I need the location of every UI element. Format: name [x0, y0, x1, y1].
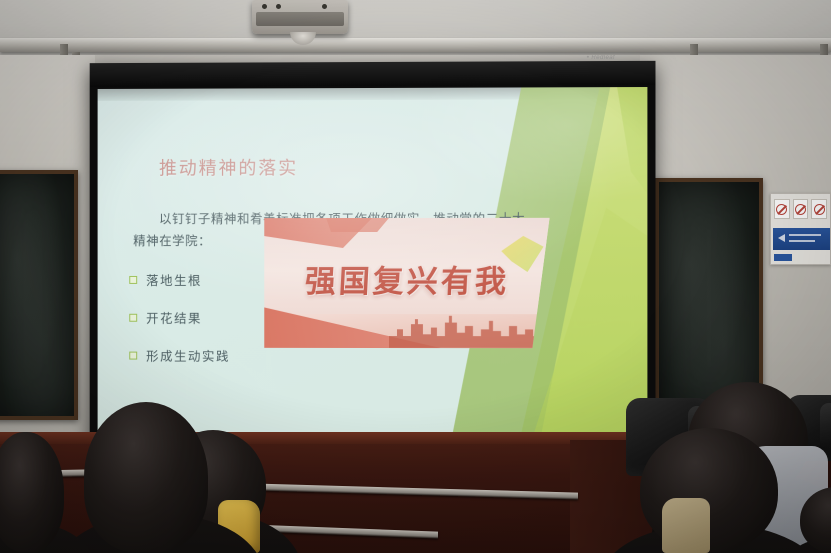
presentation-slide: 推动精神的落实 以钉钉子精神和肴善标准把各项工作做细做实，推动党的二十大精神在学… — [98, 87, 648, 457]
screen-brand-label: Redleaf — [587, 55, 615, 61]
banner-headline: 强国复兴有我 — [277, 256, 538, 301]
no-entry-icon — [811, 199, 827, 219]
screen-top-casing: Redleaf — [90, 61, 656, 87]
slide-bullet-list: 落地生根 开花结果 形成生动实践 — [129, 270, 230, 365]
sign-text-line — [789, 234, 821, 236]
list-item: 开花结果 — [129, 308, 230, 327]
safety-notice-sign — [770, 193, 831, 265]
exit-arrow-icon — [778, 234, 785, 242]
projector-front-panel — [256, 12, 344, 26]
bullet-label: 形成生动实践 — [146, 346, 230, 365]
slide-banner-image: 强国复兴有我 — [264, 218, 549, 348]
chalk-smudge — [0, 174, 74, 416]
green-square-bullet-icon — [129, 351, 137, 359]
prohibition-icon-row — [771, 194, 830, 219]
chalkboard-left — [0, 170, 78, 420]
sign-text-line — [789, 240, 815, 242]
green-square-bullet-icon — [129, 313, 137, 321]
ceiling — [0, 0, 831, 62]
ceiling-mount-rail — [0, 38, 831, 52]
no-fire-icon — [793, 199, 809, 219]
classroom-photo: Redleaf 推动精神的落实 以钉钉子精神和肴善标准把各项工作做细做实，推动党… — [0, 0, 831, 553]
city-skyline-icon — [389, 314, 549, 348]
ceiling-projector — [252, 0, 348, 34]
indicator-dot — [276, 4, 281, 9]
indicator-dot — [262, 4, 267, 9]
slide-title: 推动精神的落实 — [159, 154, 298, 180]
list-item: 形成生动实践 — [129, 346, 230, 365]
list-item: 落地生根 — [129, 270, 230, 289]
bullet-label: 开花结果 — [146, 308, 202, 327]
chalk-smudge — [659, 182, 759, 414]
no-smoking-icon — [774, 199, 790, 219]
bullet-label: 落地生根 — [146, 270, 202, 289]
indicator-dot — [322, 4, 327, 9]
green-square-bullet-icon — [129, 275, 137, 283]
sign-footer-block — [774, 254, 792, 261]
sign-info-panel — [773, 228, 830, 250]
attendee-bag — [662, 498, 710, 553]
